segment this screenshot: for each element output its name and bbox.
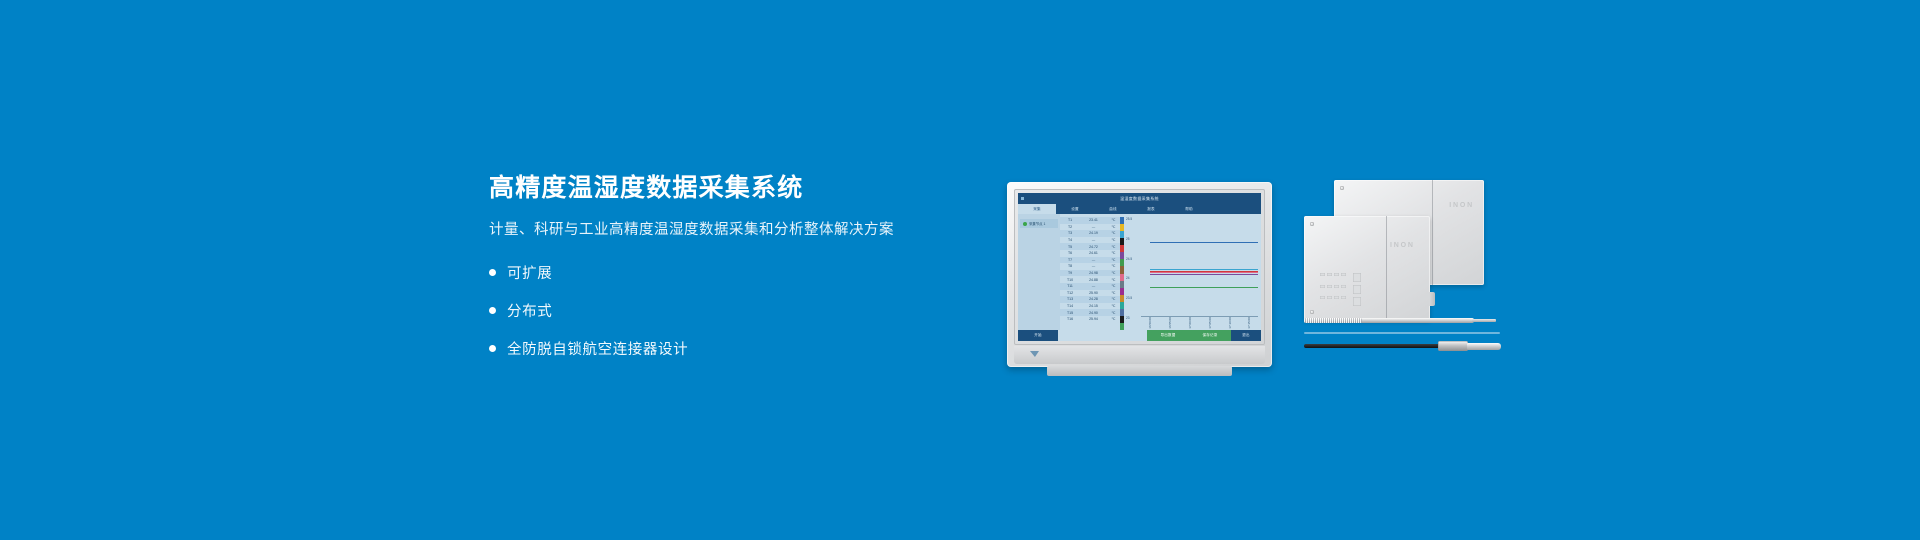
table-row[interactable]: T1024.88℃ xyxy=(1060,276,1120,283)
chart-series-line xyxy=(1150,272,1258,273)
tab-1[interactable]: 采集 xyxy=(1018,204,1056,214)
black-sensor-cable xyxy=(1304,344,1440,348)
module-port-cluster xyxy=(1320,273,1361,306)
y-tick-label: 25 xyxy=(1126,237,1130,241)
probe-tip xyxy=(1467,343,1501,350)
sidebar-item-node[interactable]: 采集节点 1 xyxy=(1020,219,1058,228)
terminal-block-icon xyxy=(1320,273,1346,306)
x-tick-label: 17:05:00 xyxy=(1208,317,1212,329)
x-tick-label: 17:10:00 xyxy=(1228,317,1232,329)
cell-unit: ℃ xyxy=(1109,317,1118,321)
footer-spacer xyxy=(1058,330,1147,341)
cell-val: 24.72 xyxy=(1078,245,1109,249)
module-brand-label: INON xyxy=(1449,202,1474,209)
monitor-chin xyxy=(1014,346,1265,364)
list-item: 全防脱自锁航空连接器设计 xyxy=(489,338,1009,359)
cell-ch: T2 xyxy=(1062,225,1078,229)
x-tick-label: 17:15:00 xyxy=(1247,317,1251,329)
cell-unit: ℃ xyxy=(1109,284,1118,288)
y-tick-label: 23.5 xyxy=(1126,296,1132,300)
footer-button[interactable]: 导出数据 xyxy=(1147,330,1189,341)
monitor-screen: 温湿度数据采集系统 采集设置曲线报表帮助 采集节点 1 T123.41℃T2--… xyxy=(1018,193,1261,341)
cell-ch: T14 xyxy=(1062,304,1078,308)
table-row[interactable]: T8---℃ xyxy=(1060,263,1120,270)
table-row[interactable]: T524.72℃ xyxy=(1060,243,1120,250)
cell-val: 24.90 xyxy=(1078,311,1109,315)
tab-2[interactable]: 设置 xyxy=(1056,204,1094,214)
screen-body: 采集节点 1 T123.41℃T2---℃T324.19℃T4---℃T524.… xyxy=(1018,214,1261,330)
page-subtitle: 计量、科研与工业高精度温湿度数据采集和分析整体解决方案 xyxy=(489,221,1009,241)
table-row[interactable]: T624.61℃ xyxy=(1060,250,1120,257)
cell-unit: ℃ xyxy=(1109,238,1118,242)
cell-ch: T1 xyxy=(1062,218,1078,222)
table-row[interactable]: T7---℃ xyxy=(1060,257,1120,264)
cell-unit: ℃ xyxy=(1109,258,1118,262)
cell-unit: ℃ xyxy=(1109,271,1118,275)
cell-unit: ℃ xyxy=(1109,245,1118,249)
cell-unit: ℃ xyxy=(1109,304,1118,308)
table-row[interactable]: T1225.90℃ xyxy=(1060,290,1120,297)
module-seam xyxy=(1386,216,1387,320)
connector-port-icon xyxy=(1353,273,1361,306)
chart-series-line xyxy=(1150,269,1258,270)
node-label: 采集节点 1 xyxy=(1029,221,1045,226)
cell-val: 24.15 xyxy=(1078,304,1109,308)
monitor-stand xyxy=(1047,366,1232,376)
bullet-icon xyxy=(489,307,496,314)
product-banner: 高精度温湿度数据采集系统 计量、科研与工业高精度温湿度数据采集和分析整体解决方案… xyxy=(0,0,1920,540)
cell-ch: T7 xyxy=(1062,258,1078,262)
table-row[interactable]: T924.98℃ xyxy=(1060,270,1120,277)
feature-label: 全防脱自锁航空连接器设计 xyxy=(507,338,688,359)
table-row[interactable]: T1625.94℃ xyxy=(1060,316,1120,323)
cell-val: 24.19 xyxy=(1078,231,1109,235)
cell-ch: T8 xyxy=(1062,264,1078,268)
cell-ch: T6 xyxy=(1062,251,1078,255)
cell-ch: T13 xyxy=(1062,297,1078,301)
x-tick-label: 17:00:00 xyxy=(1188,317,1192,329)
y-tick-label: 24 xyxy=(1126,276,1130,280)
cell-ch: T11 xyxy=(1062,284,1078,288)
screen-footer-toolbar: 开始导出数据保存记录退出 xyxy=(1018,330,1261,341)
chart-y-axis: 25.52524.52423.523 xyxy=(1126,217,1141,316)
table-row[interactable]: T324.19℃ xyxy=(1060,230,1120,237)
cell-ch: T5 xyxy=(1062,245,1078,249)
tab-4[interactable]: 报表 xyxy=(1132,204,1170,214)
monitor-device: 温湿度数据采集系统 采集设置曲线报表帮助 采集节点 1 T123.41℃T2--… xyxy=(1007,182,1272,367)
brand-logo-icon xyxy=(1030,351,1039,357)
side-connector-icon xyxy=(1429,292,1435,306)
window-title: 温湿度数据采集系统 xyxy=(1120,196,1159,202)
table-row[interactable]: T11---℃ xyxy=(1060,283,1120,290)
tab-5[interactable]: 帮助 xyxy=(1170,204,1208,214)
tab-bar: 采集设置曲线报表帮助 xyxy=(1018,204,1261,214)
screw-icon xyxy=(1310,310,1314,314)
page-title: 高精度温湿度数据采集系统 xyxy=(489,175,1009,203)
status-online-icon xyxy=(1023,222,1027,226)
chart-series-line xyxy=(1150,274,1258,275)
cell-val: --- xyxy=(1078,238,1109,242)
cell-unit: ℃ xyxy=(1109,218,1118,222)
hero-copy-block: 高精度温湿度数据采集系统 计量、科研与工业高精度温湿度数据采集和分析整体解决方案… xyxy=(489,175,1009,376)
table-row[interactable]: T1524.90℃ xyxy=(1060,309,1120,316)
screw-icon xyxy=(1310,222,1314,226)
cell-ch: T12 xyxy=(1062,291,1078,295)
sensor-probes xyxy=(1290,318,1520,360)
footer-button[interactable]: 退出 xyxy=(1231,330,1261,341)
y-tick-label: 24.5 xyxy=(1126,257,1132,261)
chart-series-line xyxy=(1150,287,1258,288)
table-row[interactable]: T2---℃ xyxy=(1060,224,1120,231)
cell-unit: ℃ xyxy=(1109,264,1118,268)
cell-unit: ℃ xyxy=(1109,231,1118,235)
cell-unit: ℃ xyxy=(1109,225,1118,229)
cell-unit: ℃ xyxy=(1109,311,1118,315)
cell-val: 23.41 xyxy=(1078,218,1109,222)
tab-3[interactable]: 曲线 xyxy=(1094,204,1132,214)
bullet-icon xyxy=(489,269,496,276)
table-row[interactable]: T4---℃ xyxy=(1060,237,1120,244)
cell-val: 25.94 xyxy=(1078,317,1109,321)
acquisition-module-front: INON xyxy=(1304,216,1430,320)
thin-blue-cable xyxy=(1304,332,1500,334)
device-sidebar: 采集节点 1 xyxy=(1018,214,1060,330)
cell-unit: ℃ xyxy=(1109,291,1118,295)
chart-x-tick-labels: 16:50:0016:55:0017:00:0017:05:0017:10:00… xyxy=(1141,317,1258,329)
window-title-bar: 温湿度数据采集系统 xyxy=(1018,193,1261,204)
cable-ferrule-icon xyxy=(1438,341,1468,351)
cell-val: 24.88 xyxy=(1078,278,1109,282)
y-tick-label: 25.5 xyxy=(1126,217,1132,221)
x-tick-label: 16:50:00 xyxy=(1148,317,1152,329)
list-item: 可扩展 xyxy=(489,262,1009,283)
metal-rod-probe xyxy=(1304,318,1474,323)
cell-val: 24.61 xyxy=(1078,251,1109,255)
monitor-bezel: 温湿度数据采集系统 采集设置曲线报表帮助 采集节点 1 T123.41℃T2--… xyxy=(1014,189,1265,345)
cell-unit: ℃ xyxy=(1109,251,1118,255)
chart-plot-area xyxy=(1141,218,1258,316)
table-row[interactable]: T123.41℃ xyxy=(1060,217,1120,224)
list-item: 分布式 xyxy=(489,300,1009,321)
cell-ch: T4 xyxy=(1062,238,1078,242)
footer-button[interactable]: 开始 xyxy=(1018,330,1058,341)
cell-val: 24.28 xyxy=(1078,297,1109,301)
module-seam xyxy=(1432,180,1433,285)
feature-label: 可扩展 xyxy=(507,262,552,283)
cell-val: --- xyxy=(1078,258,1109,262)
cell-val: --- xyxy=(1078,225,1109,229)
feature-list: 可扩展 分布式 全防脱自锁航空连接器设计 xyxy=(489,262,1009,359)
cell-val: 25.90 xyxy=(1078,291,1109,295)
y-tick-label: 23 xyxy=(1126,316,1130,320)
probe-knurled-section xyxy=(1304,318,1362,323)
cell-ch: T16 xyxy=(1062,317,1078,321)
table-row[interactable]: T1424.15℃ xyxy=(1060,303,1120,310)
cell-ch: T15 xyxy=(1062,311,1078,315)
screw-icon xyxy=(1340,186,1344,190)
cell-ch: T9 xyxy=(1062,271,1078,275)
channel-table: T123.41℃T2---℃T324.19℃T4---℃T524.72℃T624… xyxy=(1060,214,1120,330)
cell-unit: ℃ xyxy=(1109,297,1118,301)
bullet-icon xyxy=(489,345,496,352)
cell-val: 24.98 xyxy=(1078,271,1109,275)
x-tick-label: 16:55:00 xyxy=(1168,317,1172,329)
module-brand-label: INON xyxy=(1390,242,1415,249)
cell-ch: T3 xyxy=(1062,231,1078,235)
chart-series-line xyxy=(1150,242,1258,243)
feature-label: 分布式 xyxy=(507,300,552,321)
window-menu-icon xyxy=(1021,197,1024,200)
cell-ch: T10 xyxy=(1062,278,1078,282)
trend-chart: 25.52524.52423.523 16:50:0016:55:0017:00… xyxy=(1124,214,1261,330)
table-row[interactable]: T1324.28℃ xyxy=(1060,296,1120,303)
cell-val: --- xyxy=(1078,264,1109,268)
cell-unit: ℃ xyxy=(1109,278,1118,282)
footer-button[interactable]: 保存记录 xyxy=(1189,330,1231,341)
cell-val: --- xyxy=(1078,284,1109,288)
